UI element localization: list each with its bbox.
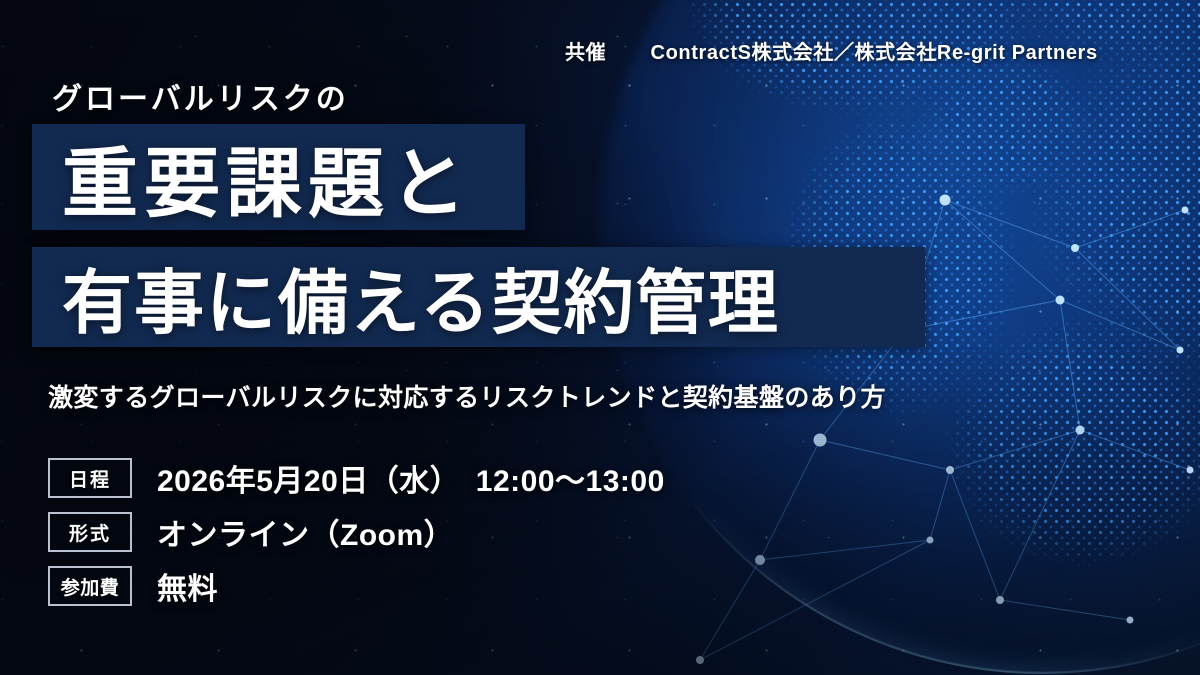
event-details: 日程 2026年5月20日（水） 12:00〜13:00 形式 オンライン（Zo… xyxy=(48,458,665,606)
detail-value-fee: 無料 xyxy=(157,564,218,608)
detail-label-fee: 参加費 xyxy=(48,566,132,606)
title-band-1: 重要課題と xyxy=(32,124,525,230)
title-band-2: 有事に備える契約管理 xyxy=(32,247,925,347)
title-line-1: 重要課題と xyxy=(32,122,472,232)
title-kicker: グローバルリスクの xyxy=(52,74,349,118)
cohost-line: 共催 ContractS株式会社／株式会社Re-grit Partners xyxy=(565,36,1098,65)
cohost-names: ContractS株式会社／株式会社Re-grit Partners xyxy=(651,42,1098,64)
detail-value-format: オンライン（Zoom） xyxy=(157,510,454,554)
detail-label-format: 形式 xyxy=(48,512,132,552)
detail-value-date: 2026年5月20日（水） 12:00〜13:00 xyxy=(157,456,665,500)
title-subtitle: 激変するグローバルリスクに対応するリスクトレンドと契約基盤のあり方 xyxy=(48,378,886,414)
detail-row-date: 日程 2026年5月20日（水） 12:00〜13:00 xyxy=(48,458,665,498)
webinar-banner: 共催 ContractS株式会社／株式会社Re-grit Partners グロ… xyxy=(0,0,1200,675)
detail-label-date: 日程 xyxy=(48,458,132,498)
cohost-label: 共催 xyxy=(565,42,606,64)
title-line-2: 有事に備える契約管理 xyxy=(32,247,780,348)
detail-row-fee: 参加費 無料 xyxy=(48,566,665,606)
detail-row-format: 形式 オンライン（Zoom） xyxy=(48,512,665,552)
